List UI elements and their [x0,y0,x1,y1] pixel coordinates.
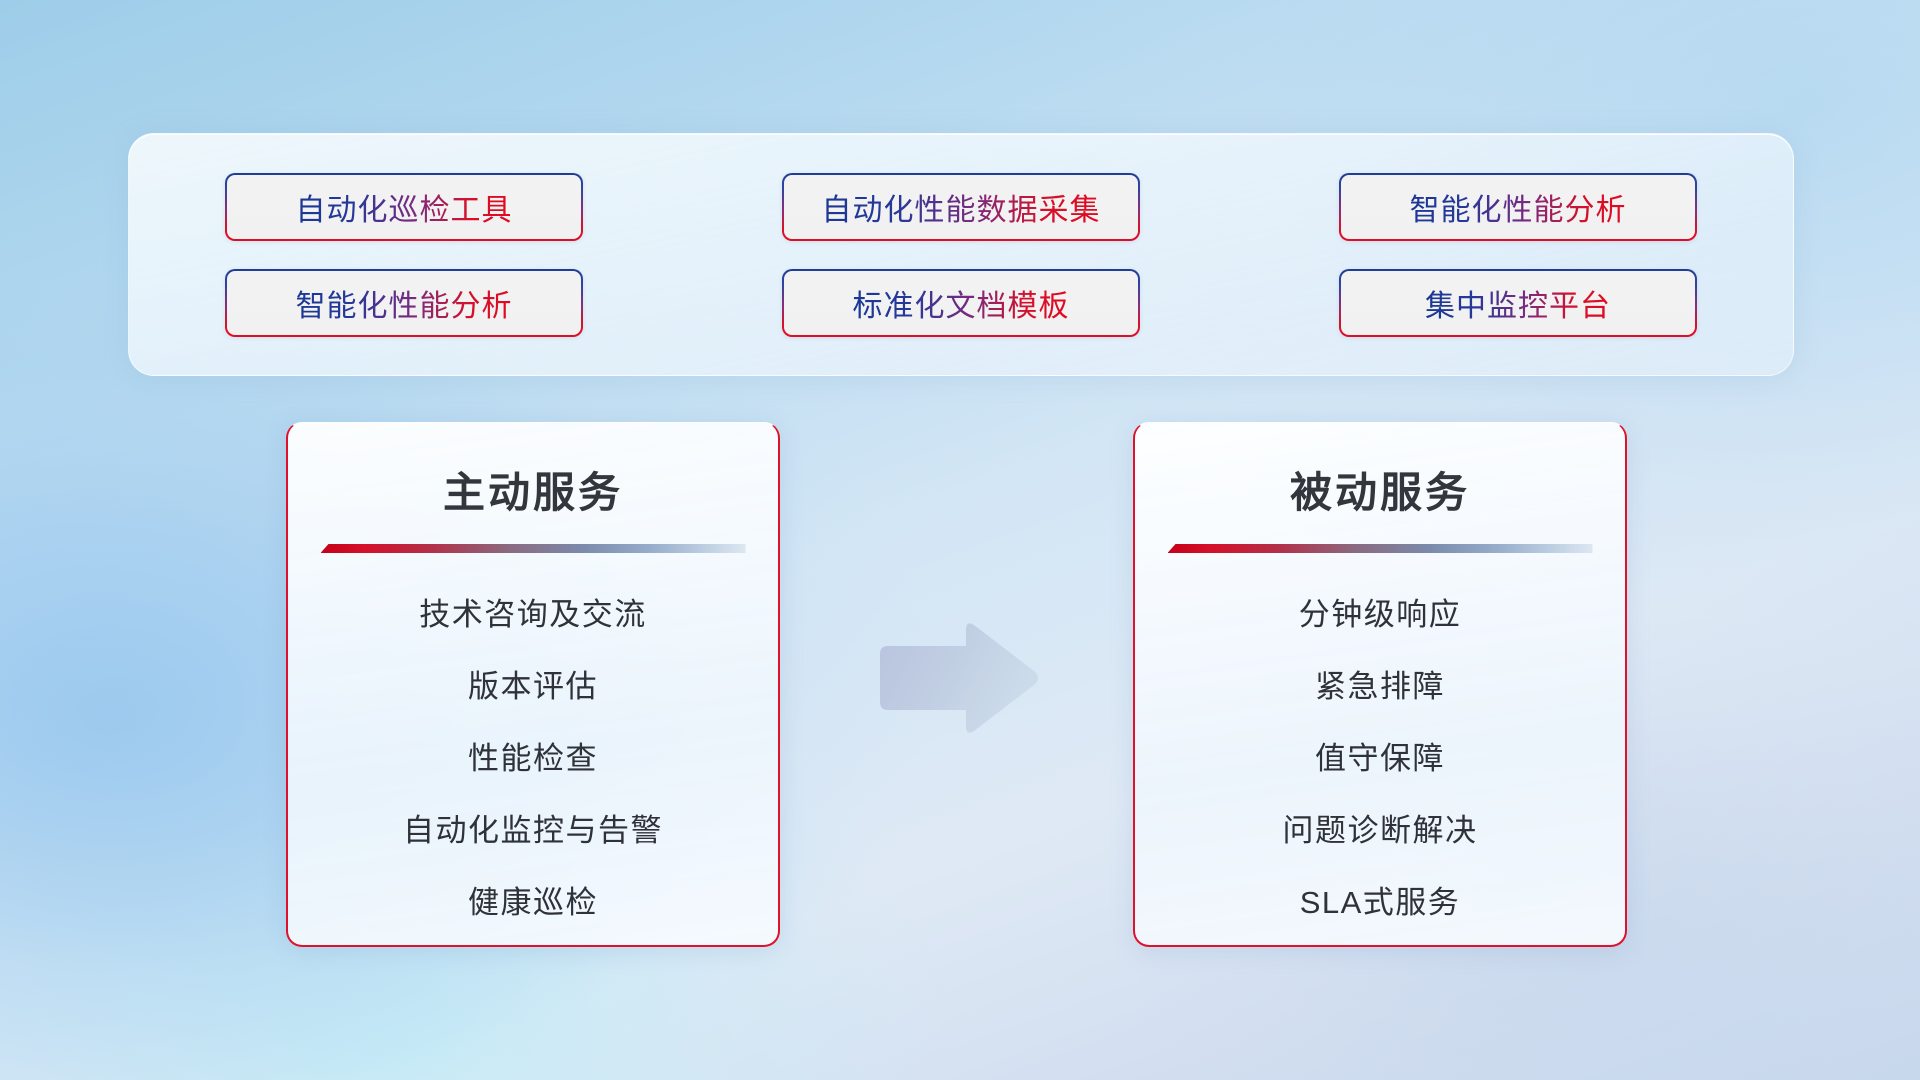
card-item-list: 技术咨询及交流 版本评估 性能检查 自动化监控与告警 健康巡检 [288,589,778,929]
capability-chip[interactable]: 智能化性能分析 [225,269,583,337]
capability-chip-label: 智能化性能分析 [1410,185,1627,229]
card-list-item: 性能检查 [468,733,598,785]
card-item-list: 分钟级响应 紧急排障 值守保障 问题诊断解决 SLA式服务 [1135,589,1625,929]
capability-chip[interactable]: 标准化文档模板 [782,269,1140,337]
right-arrow-icon [874,618,1042,738]
capability-chip-label: 标准化文档模板 [853,281,1070,325]
card-list-item: 问题诊断解决 [1283,805,1478,857]
card-list-item: 自动化监控与告警 [403,805,663,857]
capability-row-2: 智能化性能分析 标准化文档模板 集中监控平台 [225,269,1697,337]
card-list-item: 版本评估 [468,661,598,713]
diagram-canvas: 自动化巡检工具 自动化性能数据采集 智能化性能分析 智能化性能分析 标准化文档模… [0,0,1920,1080]
capability-chip-label: 集中监控平台 [1425,281,1611,325]
capability-chip-label: 智能化性能分析 [296,281,513,325]
card-title: 主动服务 [443,459,623,520]
capability-chip[interactable]: 自动化性能数据采集 [782,173,1140,241]
capability-row-1: 自动化巡检工具 自动化性能数据采集 智能化性能分析 [225,173,1697,241]
card-list-item: 紧急排障 [1315,661,1445,713]
service-card-reactive: 被动服务 分钟级响应 紧急排障 值守保障 问题诊断解决 SLA式服务 [1133,422,1627,947]
card-list-item: 分钟级响应 [1299,589,1462,641]
card-list-item: SLA式服务 [1300,877,1461,929]
capability-chip[interactable]: 智能化性能分析 [1339,173,1697,241]
capability-chip-label: 自动化巡检工具 [296,185,513,229]
capability-chip[interactable]: 自动化巡检工具 [225,173,583,241]
card-divider [1168,544,1593,553]
service-card-proactive: 主动服务 技术咨询及交流 版本评估 性能检查 自动化监控与告警 健康巡检 [286,422,780,947]
capabilities-panel: 自动化巡检工具 自动化性能数据采集 智能化性能分析 智能化性能分析 标准化文档模… [128,133,1794,376]
capability-chip[interactable]: 集中监控平台 [1339,269,1697,337]
card-list-item: 值守保障 [1315,733,1445,785]
capability-chip-label: 自动化性能数据采集 [822,185,1101,229]
card-list-item: 技术咨询及交流 [419,589,647,641]
card-list-item: 健康巡检 [468,877,598,929]
card-divider [321,544,746,553]
card-title: 被动服务 [1290,459,1470,520]
